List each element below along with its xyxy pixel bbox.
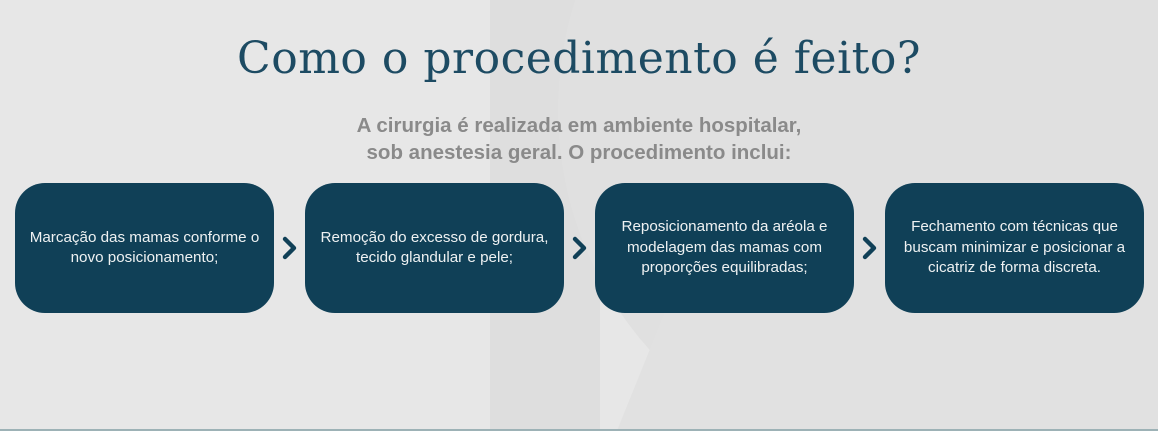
steps-row: Marcação das mamas conforme o novo posic… [15,183,1144,313]
chevron-right-icon [571,234,589,262]
step-card-3[interactable]: Reposicionamento da aréola e modelagem d… [595,183,854,313]
chevron-right-icon [861,234,879,262]
page-title: Como o procedimento é feito? [0,36,1158,82]
step-card-3-text: Reposicionamento da aréola e modelagem d… [609,217,840,278]
chevron-right-icon [281,234,299,262]
step-separator-3 [854,183,885,313]
subtitle-line-1: A cirurgia é realizada em ambiente hospi… [0,112,1158,139]
step-card-4-text: Fechamento com técnicas que buscam minim… [899,217,1130,278]
content-area: Como o procedimento é feito? A cirurgia … [0,0,1158,431]
step-separator-2 [564,183,595,313]
step-card-1[interactable]: Marcação das mamas conforme o novo posic… [15,183,274,313]
step-card-2-text: Remoção do excesso de gordura, tecido gl… [319,228,550,269]
infographic-canvas: Como o procedimento é feito? A cirurgia … [0,0,1158,431]
subtitle-line-2: sob anestesia geral. O procedimento incl… [0,139,1158,166]
step-card-2[interactable]: Remoção do excesso de gordura, tecido gl… [305,183,564,313]
step-card-1-text: Marcação das mamas conforme o novo posic… [29,228,260,269]
step-card-4[interactable]: Fechamento com técnicas que buscam minim… [885,183,1144,313]
step-separator-1 [274,183,305,313]
page-subtitle: A cirurgia é realizada em ambiente hospi… [0,112,1158,166]
